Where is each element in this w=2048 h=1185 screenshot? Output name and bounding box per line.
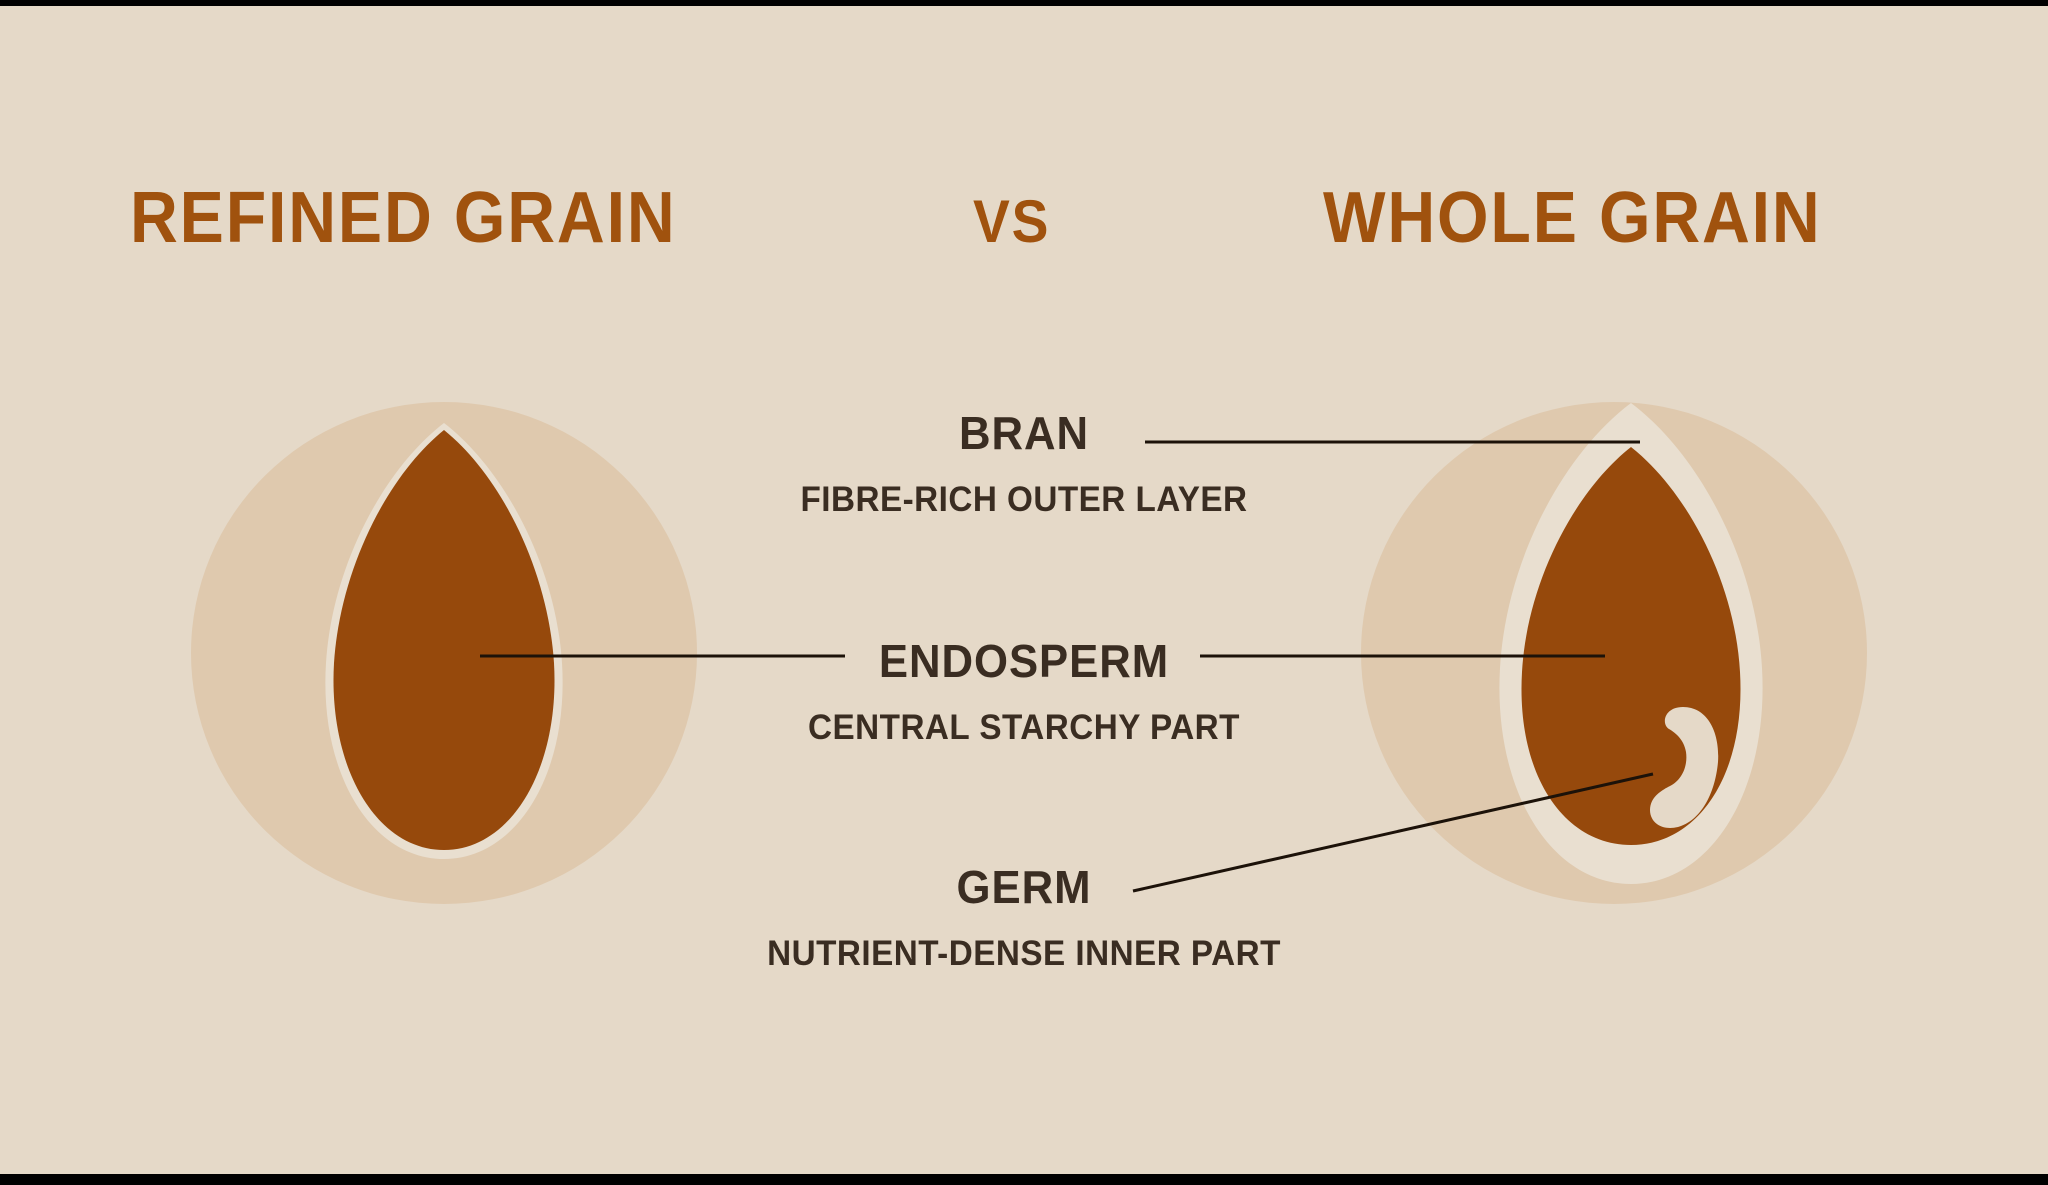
heading-refined-grain: REFINED GRAIN [130, 182, 677, 254]
refined-grain-figure [191, 402, 697, 904]
heading-whole-grain: WHOLE GRAIN [1323, 182, 1822, 254]
infographic-canvas: REFINED GRAIN VS WHOLE GRAIN BRAN FIBRE-… [0, 0, 2048, 1185]
heading-versus: VS [973, 192, 1050, 252]
whole-grain-figure [1361, 402, 1867, 904]
